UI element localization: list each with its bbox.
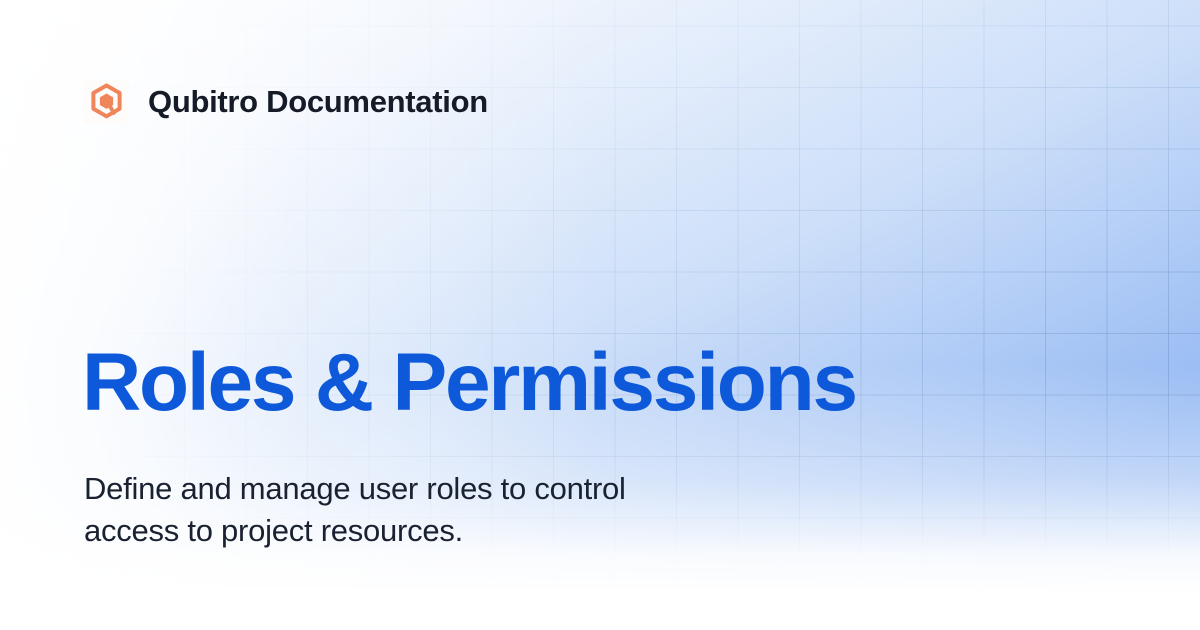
page-description: Define and manage user roles to control … (84, 468, 844, 552)
qubitro-hexagon-logo-icon (84, 79, 129, 124)
card-content: Qubitro Documentation Roles & Permission… (0, 0, 1200, 630)
page-description-line: access to project resources. (84, 510, 844, 552)
page-description-line: Define and manage user roles to control (84, 468, 844, 510)
og-card: Qubitro Documentation Roles & Permission… (0, 0, 1200, 630)
brand-title: Qubitro Documentation (148, 86, 488, 117)
page-title: Roles & Permissions (82, 340, 856, 425)
brand-header: Qubitro Documentation (84, 79, 488, 124)
